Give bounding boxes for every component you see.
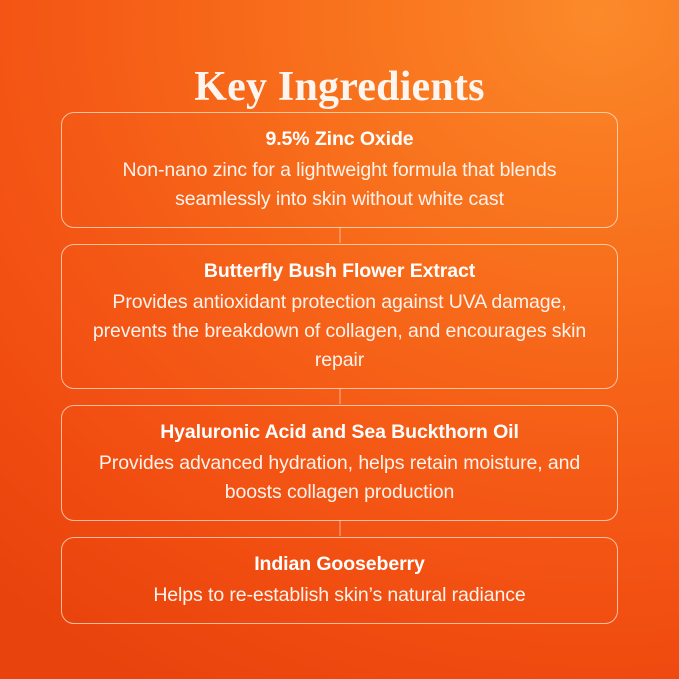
ingredient-description: Provides advanced hydration, helps retai… <box>84 449 595 507</box>
ingredient-heading: 9.5% Zinc Oxide <box>84 124 595 154</box>
page-title: Key Ingredients <box>194 62 484 112</box>
ingredient-card-stack: 9.5% Zinc Oxide Non-nano zinc for a ligh… <box>61 112 618 624</box>
ingredient-heading: Butterfly Bush Flower Extract <box>84 256 595 286</box>
ingredient-card-zinc-oxide: 9.5% Zinc Oxide Non-nano zinc for a ligh… <box>61 112 618 228</box>
key-ingredients-poster: Key Ingredients 9.5% Zinc Oxide Non-nano… <box>0 0 679 679</box>
ingredient-description: Non-nano zinc for a lightweight formula … <box>84 156 595 214</box>
ingredient-heading: Indian Gooseberry <box>84 549 595 579</box>
ingredient-card-hyaluronic-acid-sea-buckthorn-oil: Hyaluronic Acid and Sea Buckthorn Oil Pr… <box>61 405 618 521</box>
ingredient-heading: Hyaluronic Acid and Sea Buckthorn Oil <box>84 417 595 447</box>
ingredient-description: Provides antioxidant protection against … <box>84 288 595 375</box>
ingredient-description: Helps to re-establish skin’s natural rad… <box>84 581 595 610</box>
ingredient-card-indian-gooseberry: Indian Gooseberry Helps to re-establish … <box>61 537 618 624</box>
ingredient-card-butterfly-bush-flower-extract: Butterfly Bush Flower Extract Provides a… <box>61 244 618 389</box>
